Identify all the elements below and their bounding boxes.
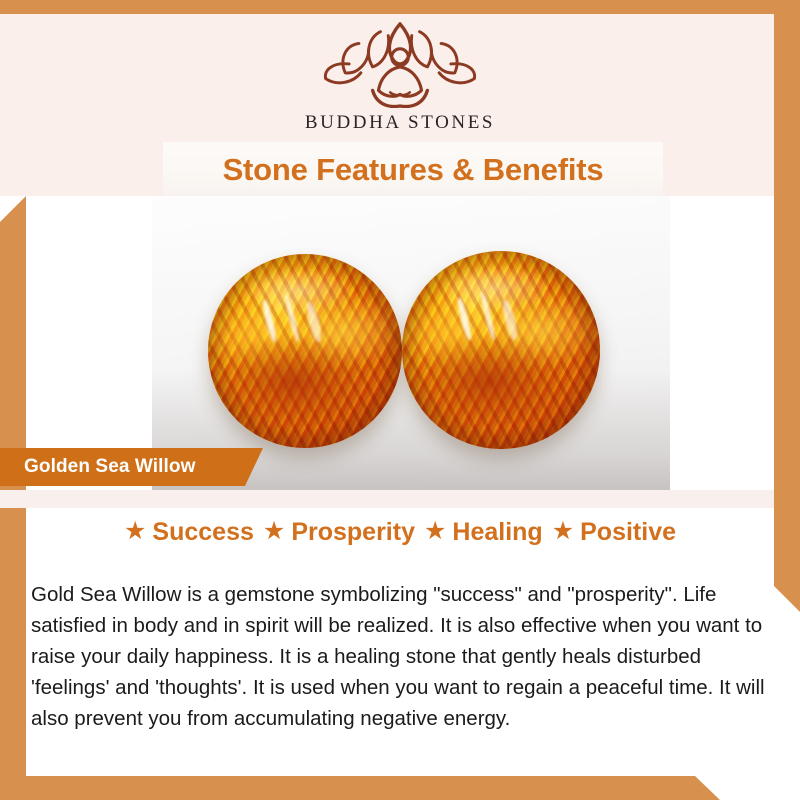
benefit-label: Healing [452,518,542,547]
stone-sphere-right [402,251,600,449]
benefit-item-positive: ★ Positive [552,518,676,547]
benefit-item-healing: ★ Healing [424,518,543,547]
product-name-banner: Golden Sea Willow [0,448,263,486]
benefit-label: Prosperity [291,518,415,547]
star-icon: ★ [124,519,146,544]
page-title: Stone Features & Benefits [223,152,604,188]
brand-name: BUDDHA STONES [0,112,800,134]
benefit-item-success: ★ Success [124,518,254,547]
lotus-meditating-figure-icon [314,18,486,108]
benefits-row: ★ Success ★ Prosperity ★ Healing ★ Posit… [0,518,800,547]
star-icon: ★ [552,519,574,544]
benefit-label: Positive [580,518,676,547]
star-icon: ★ [424,519,446,544]
star-icon: ★ [263,519,285,544]
benefit-item-prosperity: ★ Prosperity [263,518,415,547]
sphere-rim [208,254,402,448]
benefit-label: Success [152,518,253,547]
frame-bottom-border [0,776,800,800]
product-photo [152,196,670,490]
title-bar: Stone Features & Benefits [163,142,663,198]
product-name-label: Golden Sea Willow [0,456,196,478]
brand-logo: BUDDHA STONES [0,18,800,134]
sphere-rim [402,251,600,449]
product-infographic-poster: BUDDHA STONES Stone Features & Benefits [0,0,800,800]
stone-sphere-left [208,254,402,448]
photo-bottom-strip [0,490,774,508]
product-description: Gold Sea Willow is a gemstone symbolizin… [31,579,771,734]
frame-top-border [0,0,800,14]
